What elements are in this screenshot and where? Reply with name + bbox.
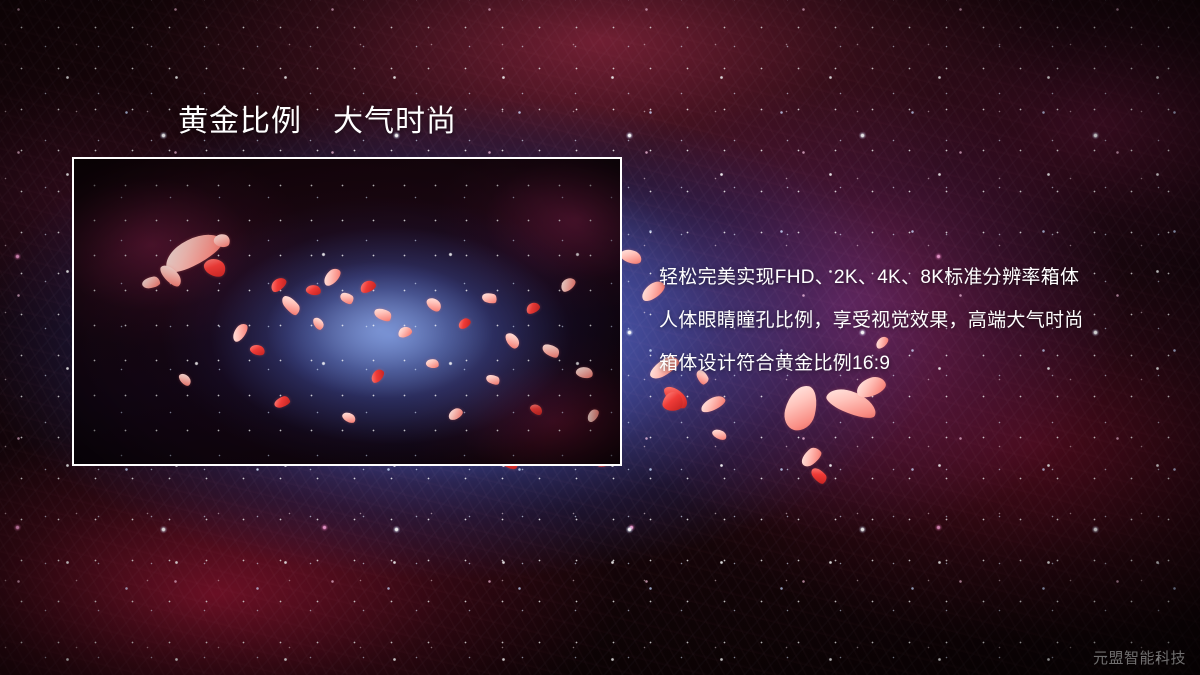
body-line-2: 人体眼睛瞳孔比例，享受视觉效果，高端大气时尚	[659, 299, 1179, 342]
rose-petal	[662, 390, 685, 412]
company-watermark: 元盟智能科技	[1093, 647, 1186, 668]
nebula-photo-panel	[72, 157, 622, 466]
rose-petal	[699, 393, 728, 415]
rose-petal	[809, 465, 829, 486]
rose-petal	[711, 427, 728, 442]
rose-petal	[781, 382, 821, 434]
rose-petal	[798, 445, 824, 470]
presentation-slide: 黄金比例 大气时尚 轻松完美实现FHD、2K、4K、8K标准分辨率箱体 人体眼睛…	[0, 0, 1200, 675]
body-line-3: 箱体设计符合黄金比例16:9	[659, 342, 1179, 385]
panel-vignette	[74, 159, 620, 464]
body-text-block: 轻松完美实现FHD、2K、4K、8K标准分辨率箱体 人体眼睛瞳孔比例，享受视觉效…	[659, 256, 1179, 385]
slide-title: 黄金比例 大气时尚	[178, 100, 457, 144]
body-line-1: 轻松完美实现FHD、2K、4K、8K标准分辨率箱体	[659, 256, 1179, 299]
rose-petal	[618, 246, 643, 266]
rose-petal	[824, 382, 880, 423]
rose-petal	[661, 382, 691, 412]
